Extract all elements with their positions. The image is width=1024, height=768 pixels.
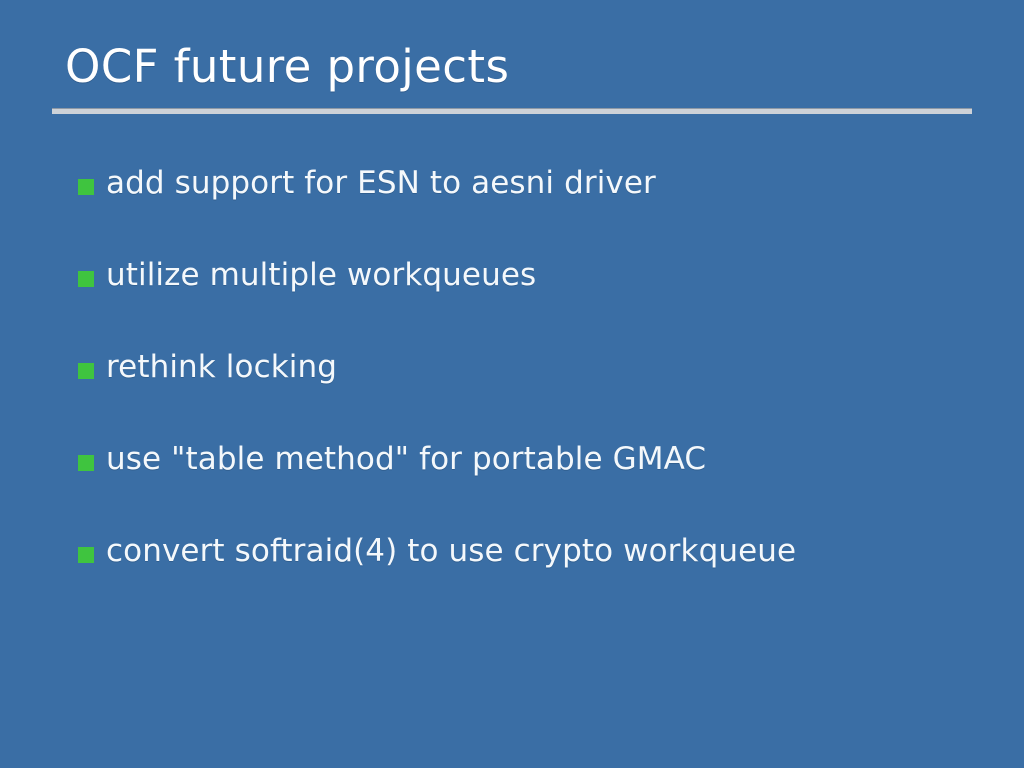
bullet-list: add support for ESN to aesni driver util…	[78, 160, 978, 620]
list-item: use "table method" for portable GMAC	[78, 436, 978, 528]
slide-title-block: OCF future projects	[52, 38, 972, 96]
list-item-label: add support for ESN to aesni driver	[106, 160, 978, 206]
list-item: utilize multiple workqueues	[78, 252, 978, 344]
list-item-label: use "table method" for portable GMAC	[106, 436, 978, 482]
list-item: convert softraid(4) to use crypto workqu…	[78, 528, 978, 620]
list-item-label: rethink locking	[106, 344, 978, 390]
green-square-bullet-icon	[78, 547, 94, 563]
list-item-label: convert softraid(4) to use crypto workqu…	[106, 528, 978, 574]
list-item: add support for ESN to aesni driver	[78, 160, 978, 252]
green-square-bullet-icon	[78, 271, 94, 287]
page-title: OCF future projects	[52, 38, 972, 96]
presentation-slide: OCF future projects add support for ESN …	[0, 0, 1024, 768]
green-square-bullet-icon	[78, 363, 94, 379]
green-square-bullet-icon	[78, 455, 94, 471]
green-square-bullet-icon	[78, 179, 94, 195]
title-underline-rule	[52, 108, 972, 114]
list-item-label: utilize multiple workqueues	[106, 252, 978, 298]
list-item: rethink locking	[78, 344, 978, 436]
